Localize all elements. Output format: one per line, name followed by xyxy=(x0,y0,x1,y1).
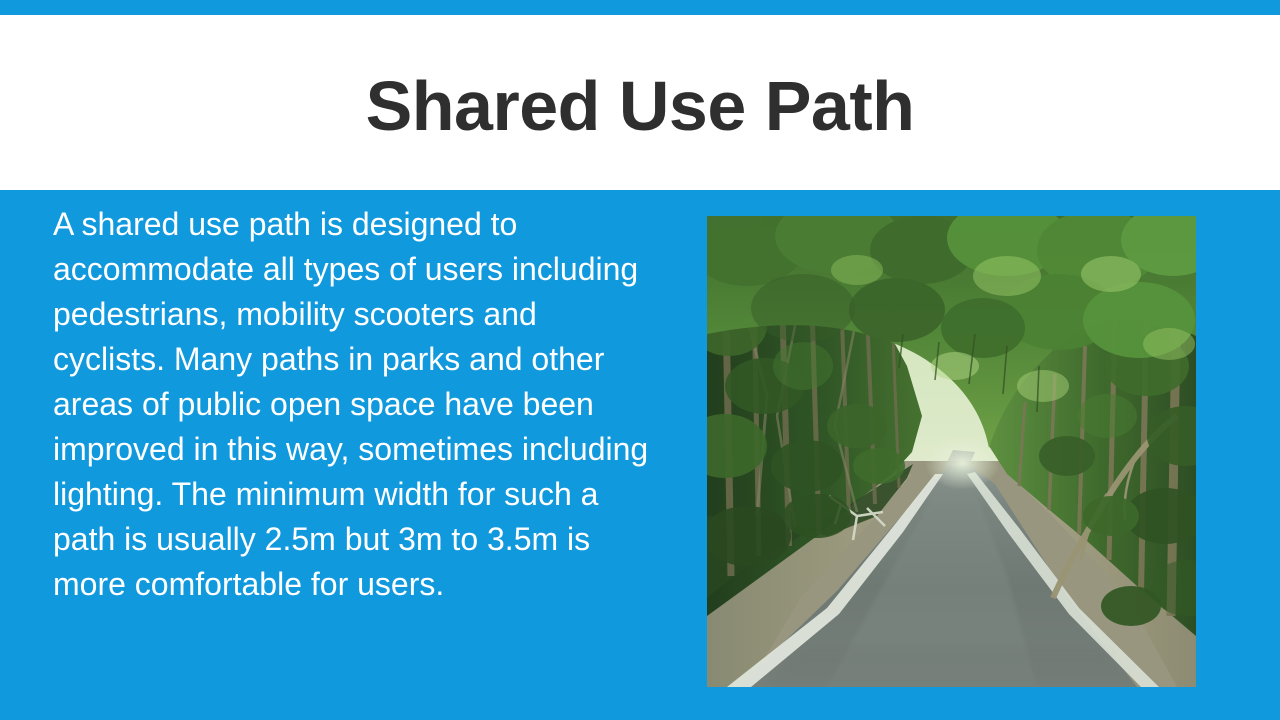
shared-use-path-photo xyxy=(707,216,1196,687)
body-paragraph: A shared use path is designed to accommo… xyxy=(53,202,653,607)
top-accent-bar xyxy=(0,0,1280,15)
slide: Shared Use Path A shared use path is des… xyxy=(0,0,1280,720)
page-title: Shared Use Path xyxy=(366,65,915,141)
photo-illustration xyxy=(707,216,1196,687)
title-band: Shared Use Path xyxy=(0,15,1280,190)
